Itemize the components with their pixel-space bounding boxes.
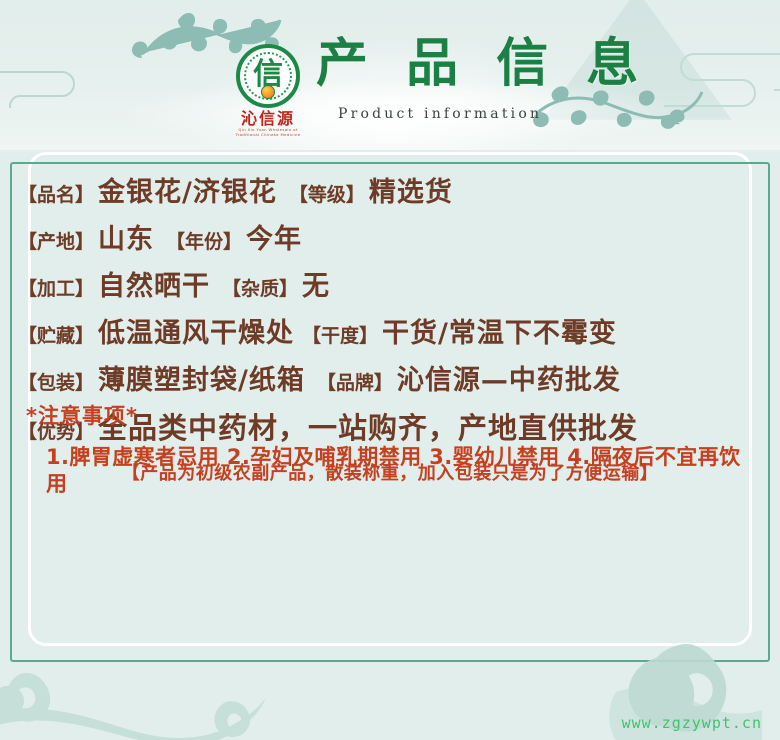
- logo-sun-dot-icon: [261, 85, 275, 99]
- info-label: 【加工】: [18, 274, 94, 301]
- info-cell-left: 【产地】 山东: [18, 217, 154, 256]
- info-label: 【产地】: [18, 227, 94, 254]
- info-value: 今年: [246, 217, 302, 256]
- info-value: 自然晒干: [98, 264, 210, 303]
- info-cell-right: 【杂质】 无: [210, 264, 596, 303]
- page-subtitle: Product information: [338, 106, 542, 122]
- info-label: 【年份】: [166, 227, 242, 254]
- info-label: 【等级】: [289, 180, 365, 207]
- caution-body: 1.脾胃虚寒者忌用 2.孕妇及哺乳期禁用 3.婴幼儿禁用 4.隔夜后不宜再饮用: [46, 444, 746, 498]
- info-row: 【加工】 自然晒干 【杂质】 无: [0, 264, 780, 311]
- info-cell-left: 【品名】 金银花/济银花: [18, 170, 277, 209]
- info-value: 精选货: [369, 170, 453, 209]
- info-cell-left: 【加工】 自然晒干: [18, 264, 210, 303]
- page-header: 信 沁信源 Qin Xin Yuan Wholesale of Traditio…: [0, 0, 780, 150]
- page-title: 产 品 信 息: [316, 38, 648, 90]
- info-row: 【包装】 薄膜塑封袋/纸箱 【品牌】 沁信源—中药批发: [0, 358, 780, 405]
- info-value: 山东: [98, 217, 154, 256]
- info-value: 金银花/济银花: [98, 170, 277, 209]
- info-cell-left: 【贮藏】 低温通风干燥处: [18, 311, 294, 350]
- logo-brand-en: Qin Xin Yuan Wholesale of Traditional Ch…: [228, 128, 308, 137]
- info-cell-right: 【等级】 精选货: [277, 170, 663, 209]
- info-label: 【干度】: [302, 321, 378, 348]
- info-value: 沁信源—中药批发: [397, 358, 621, 397]
- site-watermark: www.zgzywpt.cn: [622, 714, 762, 732]
- info-cell-left: 【包装】 薄膜塑封袋/纸箱: [18, 358, 305, 397]
- info-value: 干货/常温下不霉变: [382, 311, 617, 350]
- info-value: 薄膜塑封袋/纸箱: [98, 358, 305, 397]
- cloud-decoration-bottom-left: [0, 644, 354, 740]
- product-info-page: 信 沁信源 Qin Xin Yuan Wholesale of Traditio…: [0, 0, 780, 740]
- info-cell-right: 【干度】 干货/常温下不霉变: [294, 311, 680, 350]
- info-label: 【品牌】: [317, 368, 393, 395]
- brand-logo: 信 沁信源 Qin Xin Yuan Wholesale of Traditio…: [226, 44, 310, 136]
- info-label: 【品名】: [18, 180, 94, 207]
- info-label: 【包装】: [18, 368, 94, 395]
- info-row: 【品名】 金银花/济银花 【等级】 精选货: [0, 170, 780, 217]
- info-label: 【杂质】: [222, 274, 298, 301]
- logo-ring-icon: 信: [236, 44, 300, 108]
- info-value: 无: [302, 264, 330, 303]
- info-cell-right: 【年份】 今年: [154, 217, 540, 256]
- info-cell-right: 【品牌】 沁信源—中药批发: [305, 358, 691, 397]
- info-row: 【产地】 山东 【年份】 今年: [0, 217, 780, 264]
- caution-block: *注意事项* 1.脾胃虚寒者忌用 2.孕妇及哺乳期禁用 3.婴幼儿禁用 4.隔夜…: [26, 400, 756, 498]
- logo-brand-cn: 沁信源: [226, 111, 310, 128]
- info-label: 【贮藏】: [18, 321, 94, 348]
- caution-title: *注意事项*: [26, 400, 756, 430]
- cloud-line-decoration-left: [0, 62, 110, 108]
- info-row: 【贮藏】 低温通风干燥处 【干度】 干货/常温下不霉变: [0, 311, 780, 358]
- info-value: 低温通风干燥处: [98, 311, 294, 350]
